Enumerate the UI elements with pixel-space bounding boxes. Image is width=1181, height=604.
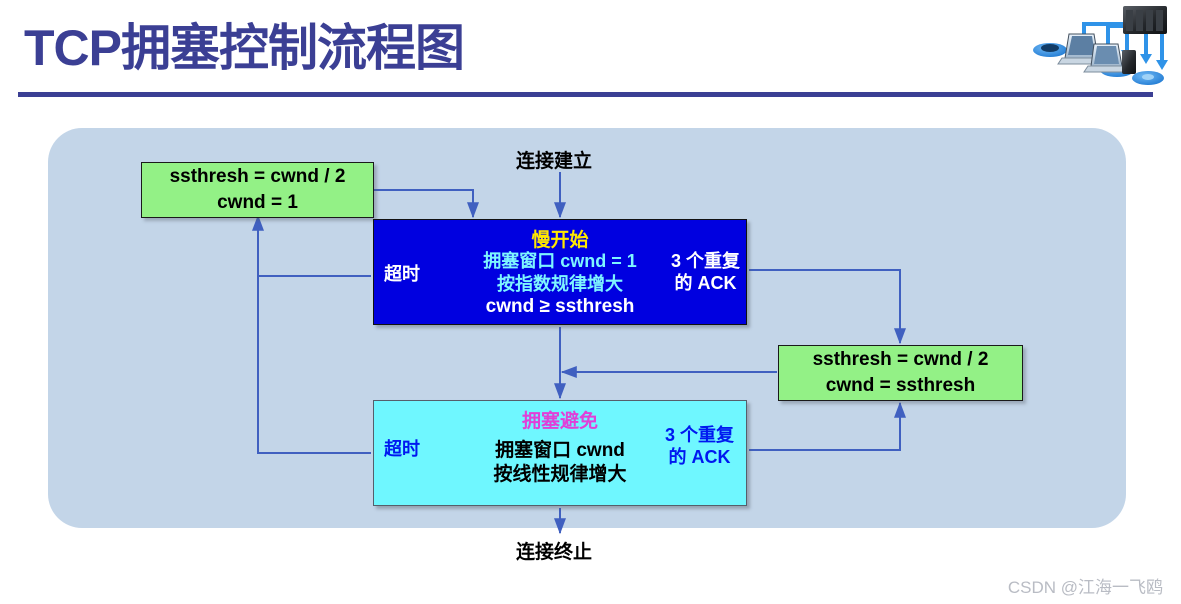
halve-line-2: cwnd = ssthresh [826, 373, 975, 399]
congestion-avoidance-timeout-label: 超时 [384, 439, 420, 461]
slide-canvas: TCP拥塞控制流程图 [0, 0, 1181, 604]
ssthresh-cwnd-halve-box[interactable]: ssthresh = cwnd / 2 cwnd = ssthresh [778, 345, 1023, 401]
csdn-watermark: CSDN @江海一飞鸥 [1008, 573, 1163, 598]
page-title: TCP拥塞控制流程图 [24, 8, 464, 80]
ca-dupack-line-2: 的 ACK [665, 447, 734, 469]
reset-line-2: cwnd = 1 [217, 190, 298, 216]
congestion-avoidance-dupack-label: 3 个重复 的 ACK [665, 425, 734, 468]
slow-start-dupack-label: 3 个重复 的 ACK [671, 251, 740, 294]
congestion-avoidance-box[interactable]: 拥塞避免 拥塞窗口 cwnd 按线性规律增大 超时 3 个重复 的 ACK [373, 400, 747, 506]
network-topology-illustration [1022, 2, 1174, 88]
halve-line-1: ssthresh = cwnd / 2 [813, 347, 989, 373]
slow-start-title: 慢开始 [374, 225, 746, 252]
ca-dupack-line-1: 3 个重复 [665, 425, 734, 447]
label-connection-setup: 连接建立 [516, 146, 592, 173]
slow-start-formula: cwnd ≥ ssthresh [374, 296, 746, 318]
reset-line-1: ssthresh = cwnd / 2 [170, 164, 346, 190]
title-divider [18, 92, 1153, 97]
ssthresh-cwnd-reset-box[interactable]: ssthresh = cwnd / 2 cwnd = 1 [141, 162, 374, 218]
slow-start-dupack-line-1: 3 个重复 [671, 251, 740, 273]
slow-start-dupack-line-2: 的 ACK [671, 273, 740, 295]
label-connection-close: 连接终止 [516, 537, 592, 564]
slow-start-timeout-label: 超时 [384, 264, 420, 286]
slow-start-box[interactable]: 慢开始 拥塞窗口 cwnd = 1 按指数规律增大 cwnd ≥ ssthres… [373, 219, 747, 325]
